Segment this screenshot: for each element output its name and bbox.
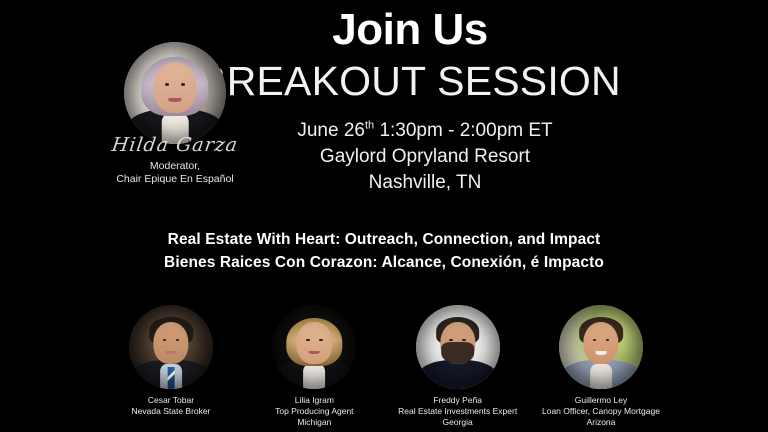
- event-date: June 26: [297, 120, 365, 141]
- moderator-role: Moderator, Chair Epique En Español: [85, 160, 265, 186]
- speaker-card: Freddy Peña Real Estate Investments Expe…: [393, 305, 523, 428]
- speaker-title: Top Producing Agent: [249, 406, 379, 417]
- speaker-portrait: [416, 305, 500, 389]
- session-title-es: Bienes Raices Con Corazon: Alcance, Cone…: [0, 251, 768, 274]
- event-flyer: Join Us BREAKOUT SESSION June 26th 1:30p…: [0, 0, 768, 432]
- event-time: 1:30pm - 2:00pm ET: [374, 120, 552, 141]
- speaker-title: Loan Officer, Canopy Mortgage: [536, 406, 666, 417]
- moderator-role-line-2: Chair Epique En Español: [85, 173, 265, 186]
- speaker-title: Real Estate Investments Expert: [393, 406, 523, 417]
- event-date-ordinal: th: [365, 120, 374, 132]
- speaker-portrait: [559, 305, 643, 389]
- speaker-row: Cesar Tobar Nevada State Broker: [106, 305, 666, 428]
- session-titles: Real Estate With Heart: Outreach, Connec…: [0, 228, 768, 274]
- speaker-caption: Guillermo Ley Loan Officer, Canopy Mortg…: [536, 395, 666, 428]
- moderator-portrait: [124, 42, 226, 144]
- moderator-role-line-1: Moderator,: [85, 160, 265, 173]
- speaker-caption: Freddy Peña Real Estate Investments Expe…: [393, 395, 523, 428]
- moderator-signature: Hilda Garza: [83, 132, 267, 158]
- speaker-name: Freddy Peña: [393, 395, 523, 406]
- speaker-location: Michigan: [249, 417, 379, 428]
- speaker-caption: Lilia Igram Top Producing Agent Michigan: [249, 395, 379, 428]
- speaker-card: Cesar Tobar Nevada State Broker: [106, 305, 236, 417]
- speaker-card: Guillermo Ley Loan Officer, Canopy Mortg…: [536, 305, 666, 428]
- speaker-location: Georgia: [393, 417, 523, 428]
- moderator-block: Hilda Garza Moderator, Chair Epique En E…: [85, 42, 265, 186]
- speaker-portrait: [272, 305, 356, 389]
- speaker-name: Lilia Igram: [249, 395, 379, 406]
- speaker-card: Lilia Igram Top Producing Agent Michigan: [249, 305, 379, 428]
- speaker-name: Cesar Tobar: [106, 395, 236, 406]
- speaker-name: Guillermo Ley: [536, 395, 666, 406]
- speaker-portrait: [129, 305, 213, 389]
- speaker-caption: Cesar Tobar Nevada State Broker: [106, 395, 236, 417]
- session-title-en: Real Estate With Heart: Outreach, Connec…: [0, 228, 768, 251]
- speaker-title: Nevada State Broker: [106, 406, 236, 417]
- speaker-location: Arizona: [536, 417, 666, 428]
